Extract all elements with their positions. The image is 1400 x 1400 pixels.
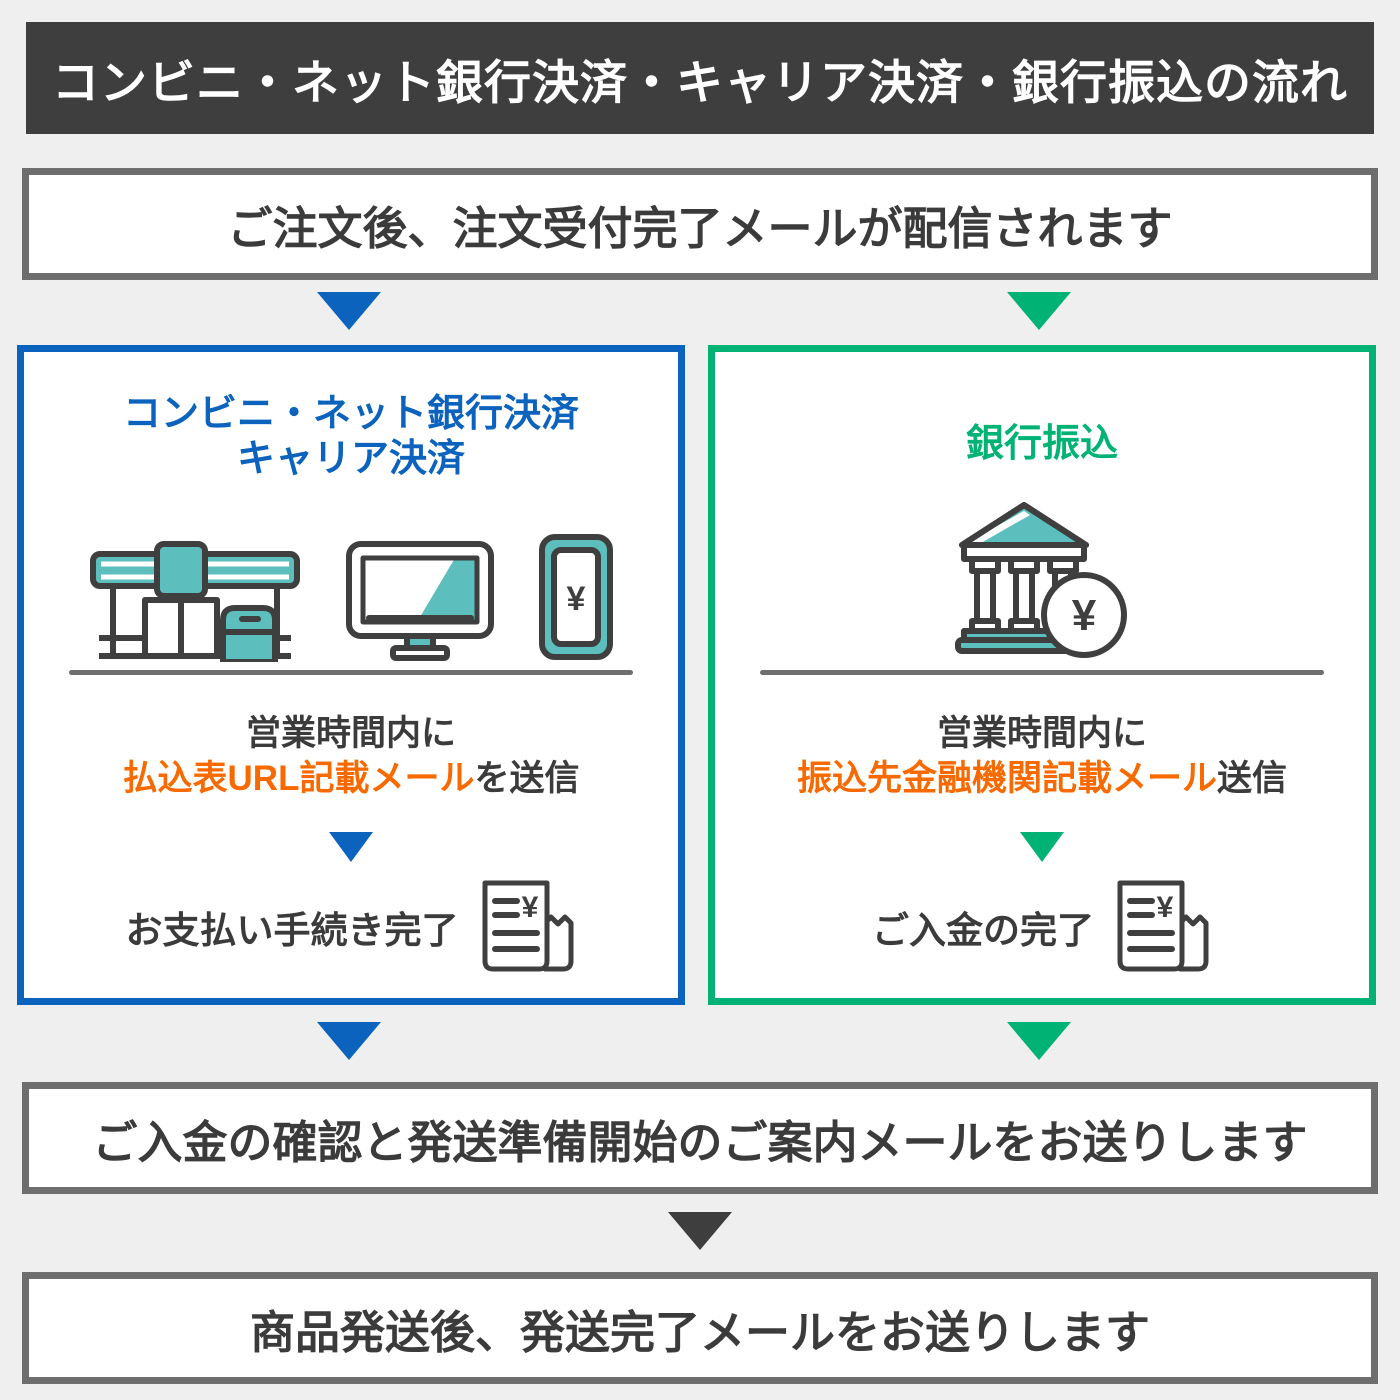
panel-bank-transfer: 銀行振込 (708, 345, 1376, 1005)
bank-yen-icon: ¥ (952, 497, 1132, 662)
bank-divider (760, 670, 1324, 675)
step-order-confirmation-label: ご注文後、注文受付完了メールが配信されます (227, 192, 1172, 257)
arrow-down-from-conveni-icon (317, 1022, 381, 1060)
step-shipped-label: 商品発送後、発送完了メールをお送りします (250, 1296, 1150, 1361)
conveni-note: 営業時間内に 払込表URL記載メールを送信 (24, 712, 678, 802)
smartphone-yen-icon: ¥ (537, 532, 615, 662)
conveni-note-line2: 払込表URL記載メールを送信 (24, 757, 678, 802)
conveni-icon-row: ¥ (24, 527, 678, 662)
svg-text:¥: ¥ (567, 580, 586, 618)
convenience-store-icon (87, 538, 303, 662)
bank-note-suffix: 送信 (1217, 759, 1287, 798)
arrow-down-conveni-result-icon (329, 832, 373, 862)
conveni-result-label: お支払い手続き完了 (126, 900, 459, 954)
bank-result-row: ご入金の完了 ¥ (715, 872, 1369, 982)
bank-note-line1: 営業時間内に (715, 712, 1369, 757)
step-shipped: 商品発送後、発送完了メールをお送りします (22, 1272, 1378, 1384)
arrow-down-to-shipped-icon (668, 1212, 732, 1250)
conveni-note-line1: 営業時間内に (24, 712, 678, 757)
payment-flow-diagram: コンビニ・ネット銀行決済・キャリア決済・銀行振込の流れ ご注文後、注文受付完了メ… (0, 0, 1400, 1400)
conveni-divider (69, 670, 633, 675)
bank-result-label: ご入金の完了 (872, 900, 1094, 954)
arrow-down-bank-result-icon (1020, 832, 1064, 862)
step-payment-confirmed-label: ご入金の確認と発送準備開始のご案内メールをお送りします (92, 1106, 1307, 1171)
svg-text:¥: ¥ (1157, 891, 1174, 924)
conveni-note-highlight: 払込表URL記載メール (123, 759, 475, 798)
arrow-down-to-bank-icon (1007, 292, 1071, 330)
panel-conveni-heading: コンビニ・ネット銀行決済 キャリア決済 (24, 392, 678, 482)
panel-conveni-heading-line1: コンビニ・ネット銀行決済 (24, 392, 678, 437)
receipt-yen-icon: ¥ (473, 877, 577, 977)
page-title: コンビニ・ネット銀行決済・キャリア決済・銀行振込の流れ (52, 44, 1348, 113)
bank-icon-row: ¥ (715, 497, 1369, 662)
monitor-icon (343, 538, 497, 662)
panel-conveni-heading-line2: キャリア決済 (24, 437, 678, 482)
step-payment-confirmed: ご入金の確認と発送準備開始のご案内メールをお送りします (22, 1082, 1378, 1194)
conveni-result-row: お支払い手続き完了 ¥ (24, 872, 678, 982)
conveni-note-suffix: を送信 (474, 759, 579, 798)
step-order-confirmation: ご注文後、注文受付完了メールが配信されます (22, 168, 1378, 280)
bank-note-line2: 振込先金融機関記載メール送信 (715, 757, 1369, 802)
receipt-yen-icon: ¥ (1108, 877, 1212, 977)
svg-text:¥: ¥ (521, 891, 538, 924)
bank-note: 営業時間内に 振込先金融機関記載メール送信 (715, 712, 1369, 802)
arrow-down-to-conveni-icon (317, 292, 381, 330)
panel-bank-heading-line1: 銀行振込 (715, 422, 1369, 467)
panel-conveni-payment: コンビニ・ネット銀行決済 キャリア決済 (17, 345, 685, 1005)
svg-text:¥: ¥ (1072, 591, 1097, 640)
panel-bank-heading: 銀行振込 (715, 422, 1369, 467)
diagram-title-bar: コンビニ・ネット銀行決済・キャリア決済・銀行振込の流れ (26, 22, 1374, 134)
bank-note-highlight: 振込先金融機関記載メール (797, 759, 1217, 798)
arrow-down-from-bank-icon (1007, 1022, 1071, 1060)
